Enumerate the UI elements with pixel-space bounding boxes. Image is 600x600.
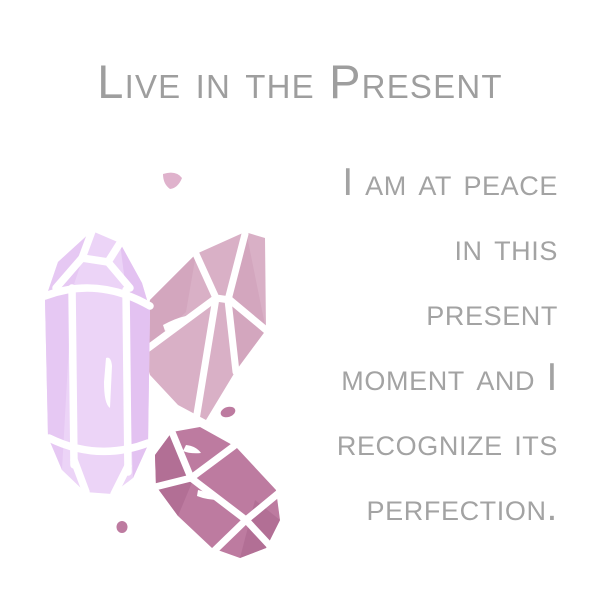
pink-crystal-facet-upper-left	[143, 254, 196, 352]
mauve-crystal-facet-left	[155, 432, 193, 516]
lavender-crystal-facet-right	[120, 243, 150, 478]
shard-middle	[219, 405, 236, 419]
shard-top	[163, 173, 182, 189]
pink-crystal-facet-lines	[143, 234, 266, 420]
affirmation-line: moment and I	[268, 345, 558, 410]
shard-bottom	[117, 521, 128, 533]
affirmation-line: in this	[268, 215, 558, 280]
lavender-crystal-highlight	[104, 358, 112, 408]
lavender-crystal-facet-lines	[45, 231, 150, 494]
mauve-crystal-body	[155, 427, 280, 558]
affirmation-line: I am at peace	[268, 150, 558, 215]
pink-crystal	[143, 232, 266, 420]
pink-crystal-facet-right	[228, 236, 266, 370]
mauve-crystal-highlight-lower	[197, 490, 220, 500]
pink-crystal-highlight	[163, 316, 186, 331]
poster-canvas: Live in the Present I am at peace in thi…	[0, 0, 600, 600]
lavender-crystal-facet-left	[45, 231, 92, 470]
affirmation-line: present	[268, 280, 558, 345]
mauve-crystal-facet-lines	[155, 432, 280, 551]
mauve-crystal	[155, 427, 280, 558]
affirmation-line: recognize its	[268, 410, 558, 475]
page-title: Live in the Present	[0, 58, 600, 105]
lavender-crystal	[45, 231, 150, 494]
pink-crystal-body	[143, 232, 266, 420]
mauve-crystal-highlight-upper	[183, 445, 201, 453]
affirmation-line: perfection.	[268, 475, 558, 540]
affirmation-text-block: I am at peace in this present moment and…	[268, 150, 558, 540]
lavender-crystal-body	[45, 231, 150, 494]
